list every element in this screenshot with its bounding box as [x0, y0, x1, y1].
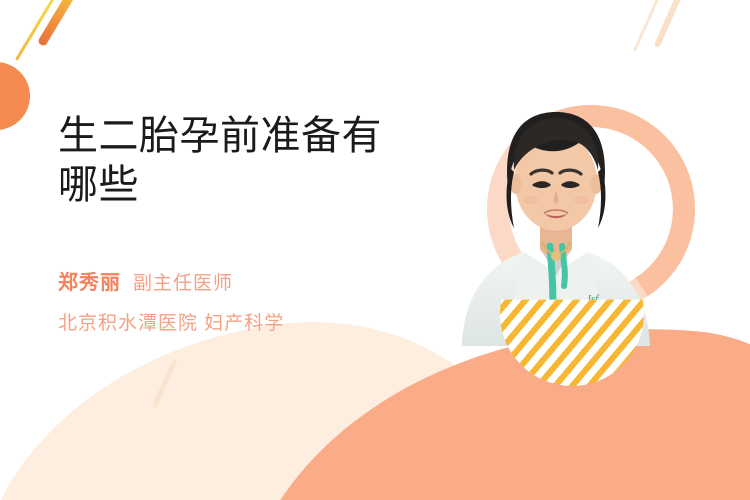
diagonal-stripe-top-right-b-icon: [633, 0, 665, 51]
doctor-byline: 郑秀丽副主任医师 北京积水潭医院 妇产科学: [58, 264, 438, 342]
doctor-affiliation: 北京积水潭医院 妇产科学: [58, 306, 438, 342]
diagonal-stripe-orange-icon: [37, 0, 84, 47]
doctor-portrait: Jsf: [452, 96, 660, 346]
doctor-title: 副主任医师: [133, 273, 233, 294]
salmon-wave-light-decoration: [358, 327, 750, 500]
text-block: 生二胎孕前准备有哪些 郑秀丽副主任医师 北京积水潭医院 妇产科学: [58, 112, 438, 342]
diagonal-stripe-yellow-icon: [15, 0, 61, 61]
diagonal-stripe-bottom-left-icon: [152, 359, 178, 409]
orange-circle-decoration: [0, 62, 30, 130]
doctor-name: 郑秀丽: [58, 272, 121, 294]
doctor-intro-card: Jsf 生二胎孕前准备有哪些 郑秀丽副主任医师 北京积水潭医院 妇产科学: [0, 0, 750, 500]
diagonal-stripe-top-right-a-icon: [654, 0, 689, 48]
page-title: 生二胎孕前准备有哪些: [58, 112, 408, 210]
svg-text:Jsf: Jsf: [586, 293, 600, 305]
